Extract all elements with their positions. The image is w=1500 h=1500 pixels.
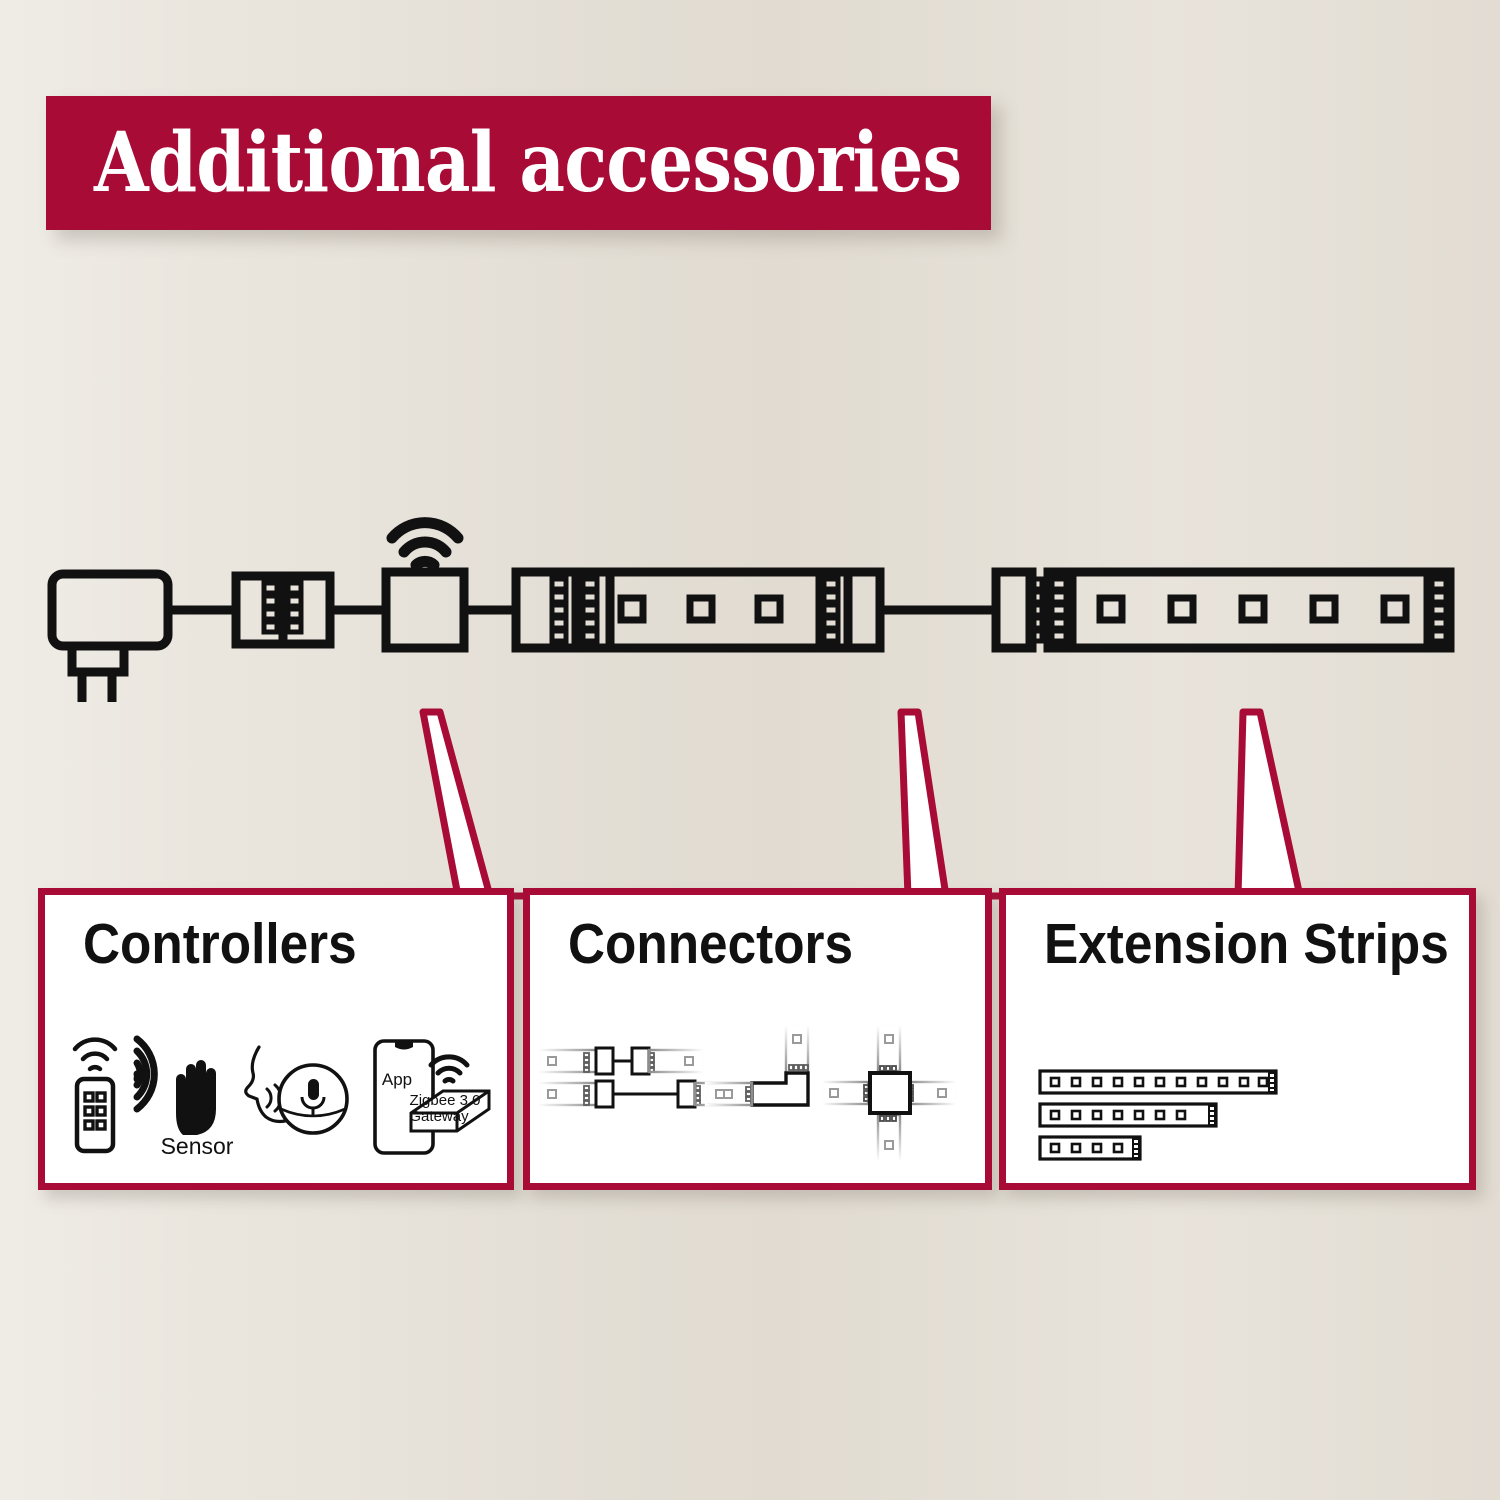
straight-cable-connector-short-icon (538, 1048, 704, 1074)
callout-pointer-connectors (838, 700, 1008, 900)
connector-icon-row (530, 1017, 971, 1177)
controller-box-icon (386, 572, 464, 648)
infographic-canvas: Additional accessories (0, 0, 1500, 1500)
controller-icon-row: Sensor (45, 1017, 493, 1177)
wiring-chain-diagram (0, 480, 1500, 720)
cross-connector-icon (822, 1025, 956, 1161)
power-supply-icon (52, 574, 168, 702)
extension-strip-row (1006, 1017, 1455, 1177)
gateway-label-line1: Zigbee 3.0 (410, 1092, 481, 1109)
remote-control-icon (75, 1040, 115, 1151)
callout-body-extension (1006, 1017, 1469, 1175)
callout-controllers[interactable]: Controllers (38, 888, 514, 1190)
callout-connectors[interactable]: Connectors (523, 888, 992, 1190)
led-strip-long-icon (996, 572, 1450, 648)
straight-cable-connector-long-icon (538, 1081, 743, 1107)
wifi-icon (392, 523, 458, 565)
corner-connector-icon (706, 1025, 808, 1105)
callout-pointer-extension (1182, 700, 1362, 900)
title-banner: Additional accessories (46, 96, 991, 230)
extension-strip-icon (1040, 1137, 1140, 1159)
app-label: App (382, 1070, 412, 1089)
sensor-label: Sensor (161, 1133, 234, 1159)
extension-strip-icon (1040, 1104, 1216, 1126)
callout-title-extension: Extension Strips (1044, 915, 1449, 975)
callout-extension-strips[interactable]: Extension Strips (999, 888, 1476, 1190)
extension-strip-icon (1040, 1071, 1276, 1093)
page-title: Additional accessories (94, 122, 961, 204)
hand-sensor-icon: Sensor (137, 1039, 234, 1159)
gateway-label-line2: Gateway (409, 1108, 469, 1125)
voice-speaker-icon (246, 1047, 347, 1133)
led-strip-short-icon (516, 572, 880, 648)
callout-body-controllers: Sensor (45, 1017, 507, 1175)
callout-title-connectors: Connectors (568, 915, 853, 975)
callout-body-connectors (530, 1017, 985, 1175)
callout-pointer-controllers (370, 700, 550, 900)
phone-gateway-icon: App Zigbee 3.0 Gateway (375, 1041, 489, 1153)
inline-connector-block-icon (236, 576, 330, 644)
callout-title-controllers: Controllers (83, 915, 357, 975)
